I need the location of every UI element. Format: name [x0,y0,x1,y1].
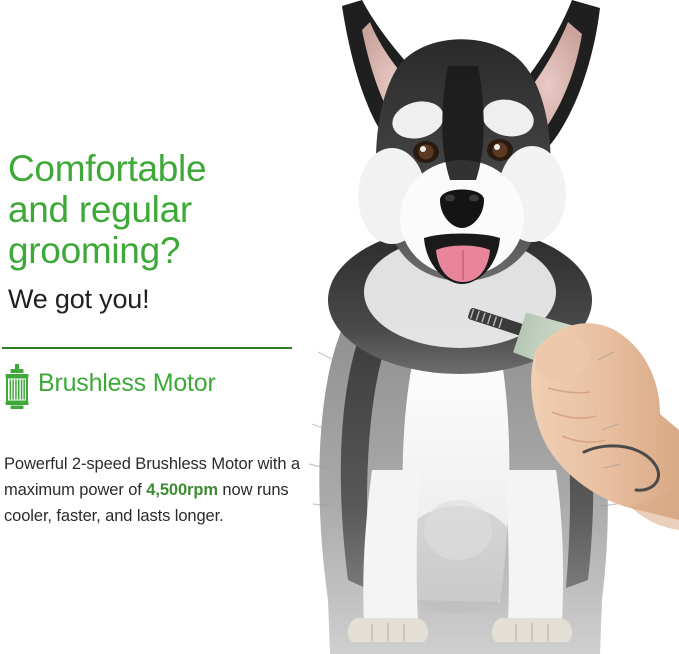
section-divider [2,347,292,349]
dog-left-eye [413,141,439,163]
page-title: Comfortable and regular grooming? [8,148,308,271]
product-photo [300,0,679,654]
ad-banner: Comfortable and regular grooming? We got… [0,0,679,654]
dog-left-leg [363,470,420,622]
brushless-motor-icon [4,364,30,410]
subheading: We got you! [8,283,149,315]
headline-line-1: Comfortable [8,148,308,189]
dog-grooming-illustration [300,0,679,654]
feature-description: Powerful 2-speed Brushless Motor with a … [4,451,310,529]
feature-title: Brushless Motor [38,368,216,398]
dog-right-leg [506,470,563,622]
dog-right-eye [487,139,513,161]
headline-line-2: and regular [8,189,308,230]
text-column: Comfortable and regular grooming? We got… [0,0,320,654]
rpm-highlight: 4,500rpm [146,481,218,499]
headline-line-3: grooming? [8,230,308,271]
feature-heading-row: Brushless Motor [2,362,302,410]
